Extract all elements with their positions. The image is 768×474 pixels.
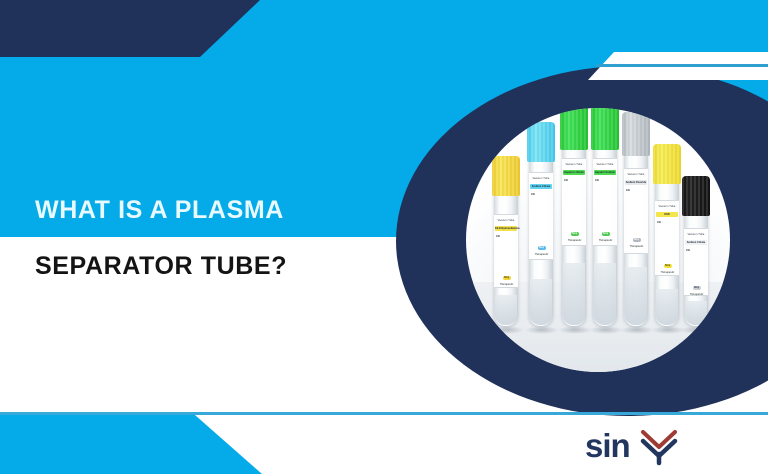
tube-cap bbox=[527, 122, 555, 162]
tube-contents bbox=[685, 301, 707, 325]
vacuum-tube: Vacuum Tube Heparin Lithium CE Sinÿ Ther… bbox=[562, 144, 586, 326]
vacuum-tube: Vacuum Tube K2-Ethylenediamine CE Sinÿ T… bbox=[494, 190, 518, 326]
tube-label: Vacuum Tube Heparin Lithium CE Sinÿ Ther… bbox=[562, 158, 586, 246]
thin-blue-rule-bottom bbox=[0, 412, 768, 415]
tube-ce-mark: CE bbox=[496, 234, 500, 238]
vacuum-tube: Vacuum Tube Heparin Sodium CE Sinÿ Thera… bbox=[593, 144, 617, 326]
tube-ce-mark: CE bbox=[626, 188, 630, 192]
tube-label-title: Vacuum Tube bbox=[625, 173, 647, 176]
tube-contents bbox=[656, 289, 678, 325]
tube-label-additive: Heparin Lithium bbox=[563, 170, 585, 175]
tube-contents bbox=[563, 263, 585, 325]
tube-label: Vacuum Tube Sodium Citrate CE Sinÿ Thera… bbox=[529, 172, 553, 260]
tube-contents bbox=[495, 295, 517, 325]
tube-cap bbox=[492, 156, 520, 196]
tube-brand-badge: Sinÿ Therapeutic bbox=[596, 221, 615, 242]
tube-label-additive: K2-Ethylenediamine bbox=[495, 226, 517, 231]
tube-label-title: Vacuum Tube bbox=[656, 205, 678, 208]
tube-shadow bbox=[680, 326, 712, 334]
tube-cap bbox=[591, 108, 619, 150]
tube-label-additive: Sodium Fluoride bbox=[625, 180, 647, 185]
tube-brand-badge: Sinÿ Therapeutic bbox=[497, 265, 516, 286]
brand-logo-text: sin bbox=[585, 427, 630, 465]
tube-shadow bbox=[620, 326, 654, 334]
vacuum-tube: Vacuum Tube Sodium Fluoride CE Sinÿ Ther… bbox=[624, 150, 648, 326]
vacuum-tube: Vacuum Tube ESR CE Sinÿ Therapeutic bbox=[655, 178, 679, 326]
tube-brand-badge: Sinÿ Therapeutic bbox=[532, 235, 551, 256]
tube-label: Vacuum Tube Sodium Fluoride CE Sinÿ Ther… bbox=[624, 168, 648, 254]
tube-label-title: Vacuum Tube bbox=[594, 163, 616, 166]
tube-brand-badge: Sinÿ Therapeutic bbox=[687, 275, 706, 296]
page-title-line-1: WHAT IS A PLASMA bbox=[35, 196, 284, 225]
tube-label-title: Vacuum Tube bbox=[685, 233, 707, 236]
tube-brand-badge: Sinÿ Therapeutic bbox=[565, 221, 584, 242]
brand-logo[interactable]: sin bbox=[585, 427, 725, 467]
tube-label-additive: Sodium Citrate bbox=[530, 184, 552, 189]
thin-blue-rule-top bbox=[596, 64, 768, 67]
tube-label-title: Vacuum Tube bbox=[563, 163, 585, 166]
tube-label: Vacuum Tube Heparin Sodium CE Sinÿ Thera… bbox=[593, 158, 617, 246]
tube-ce-mark: CE bbox=[564, 178, 568, 182]
tube-label-title: Vacuum Tube bbox=[495, 219, 517, 222]
tube-shadow bbox=[525, 326, 559, 334]
tube-ce-mark: CE bbox=[686, 248, 690, 252]
banner-canvas: Vacuum Tube K2-Ethylenediamine CE Sinÿ T… bbox=[0, 0, 768, 474]
tube-contents bbox=[625, 267, 647, 325]
vacuum-tube: Vacuum Tube Sodium Citrate CE Sinÿ Thera… bbox=[529, 156, 553, 326]
tube-label-additive: ESR bbox=[656, 212, 678, 217]
tube-ce-mark: CE bbox=[657, 220, 661, 224]
vacuum-tube: Vacuum Tube Sodium Citrate CE Sinÿ Thera… bbox=[684, 210, 708, 326]
tube-cap bbox=[682, 176, 710, 216]
brand-logo-y-icon bbox=[638, 428, 682, 466]
tube-contents bbox=[530, 279, 552, 325]
tube-cap bbox=[622, 112, 650, 156]
tube-label-title: Vacuum Tube bbox=[530, 177, 552, 180]
tube-brand-badge: Sinÿ Therapeutic bbox=[658, 253, 677, 274]
tube-label-additive: Heparin Sodium bbox=[594, 170, 616, 175]
tube-label-additive: Sodium Citrate bbox=[685, 240, 707, 245]
tube-ce-mark: CE bbox=[531, 192, 535, 196]
page-title-line-2: SEPARATOR TUBE? bbox=[35, 252, 287, 281]
tube-cap bbox=[653, 144, 681, 184]
product-photo-disc: Vacuum Tube K2-Ethylenediamine CE Sinÿ T… bbox=[466, 108, 730, 372]
tube-shadow bbox=[589, 326, 623, 334]
tube-shadow bbox=[490, 326, 524, 334]
tube-label: Vacuum Tube ESR CE Sinÿ Therapeutic bbox=[655, 200, 679, 276]
tube-label: Vacuum Tube Sodium Citrate CE Sinÿ Thera… bbox=[684, 228, 708, 296]
tube-brand-badge: Sinÿ Therapeutic bbox=[627, 227, 646, 248]
tube-contents bbox=[594, 263, 616, 325]
tube-ce-mark: CE bbox=[595, 178, 599, 182]
tube-cap bbox=[560, 108, 588, 150]
tube-shadow bbox=[558, 326, 592, 334]
tube-label: Vacuum Tube K2-Ethylenediamine CE Sinÿ T… bbox=[494, 214, 518, 288]
